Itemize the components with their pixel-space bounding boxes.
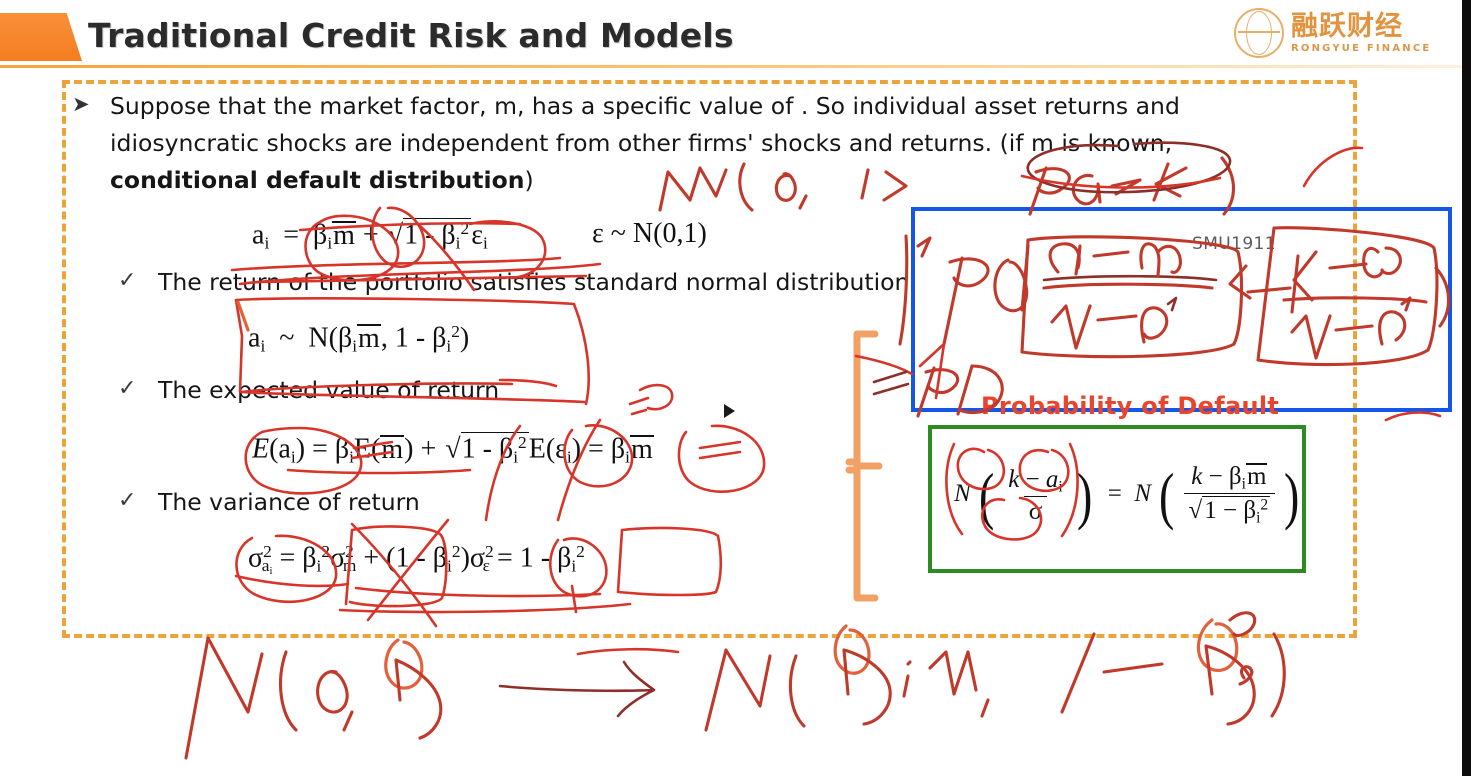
logo-english-text: RONGYUE FINANCE bbox=[1291, 43, 1431, 54]
brand-logo: 融跃财经 RONGYUE FINANCE bbox=[1234, 6, 1444, 60]
formula-expected-value: E(ai) = βiE(m) + √1 - βi2E(εi) = βim bbox=[252, 432, 654, 467]
mouse-cursor-icon bbox=[724, 404, 735, 418]
green-highlight-box: N ( k − aiσ ) = N ( k − βim√1 − βi2 ) bbox=[928, 425, 1306, 573]
logo-emblem-icon bbox=[1234, 8, 1284, 58]
watermark-label: SMU1911 bbox=[1192, 234, 1276, 254]
logo-chinese-text: 融跃财经 bbox=[1291, 13, 1431, 40]
check-icon-2: ✓ bbox=[118, 376, 136, 401]
bullet-arrow-icon: ➤ bbox=[72, 92, 90, 116]
formula-variance: σ2ai = βi2σ2m + (1 - βi2)σ2ε = 1 - βi2 bbox=[248, 542, 585, 577]
formula-probability-of-default: N ( k − aiσ ) = N ( k − βim√1 − βi2 ) bbox=[954, 463, 1303, 527]
formula-return-distribution: ai ~ N(βim, 1 - βi2) bbox=[248, 322, 469, 356]
check-label-variance: The variance of return bbox=[158, 488, 420, 516]
paragraph-intro-tail: ) bbox=[524, 166, 533, 194]
presentation-slide: Traditional Credit Risk and Models 融跃财经 … bbox=[0, 0, 1471, 776]
probability-of-default-label: Probability of Default bbox=[981, 392, 1279, 420]
check-icon-1: ✓ bbox=[118, 268, 136, 293]
screen-edge-band bbox=[1462, 0, 1471, 776]
formula-epsilon-distribution: ε ~ N(0,1) bbox=[578, 218, 707, 250]
page-title: Traditional Credit Risk and Models bbox=[88, 16, 734, 55]
paragraph-intro-text: Suppose that the market factor, m, has a… bbox=[110, 92, 1180, 157]
formula-asset-return: ai = βim + √1 - βi2εi bbox=[252, 218, 488, 253]
title-accent-shape bbox=[0, 13, 82, 61]
slide-title-bar: Traditional Credit Risk and Models 融跃财经 … bbox=[0, 0, 1462, 68]
check-icon-3: ✓ bbox=[118, 488, 136, 513]
check-label-expected-value: The expected value of return bbox=[158, 376, 499, 404]
orange-brace-icon bbox=[845, 330, 885, 602]
paragraph-intro-bold: conditional default distribution bbox=[110, 166, 524, 194]
blue-highlight-box bbox=[911, 207, 1452, 412]
check-label-portfolio-return: The return of the portfolio satisfies st… bbox=[158, 268, 909, 296]
paragraph-intro: Suppose that the market factor, m, has a… bbox=[110, 88, 1240, 199]
